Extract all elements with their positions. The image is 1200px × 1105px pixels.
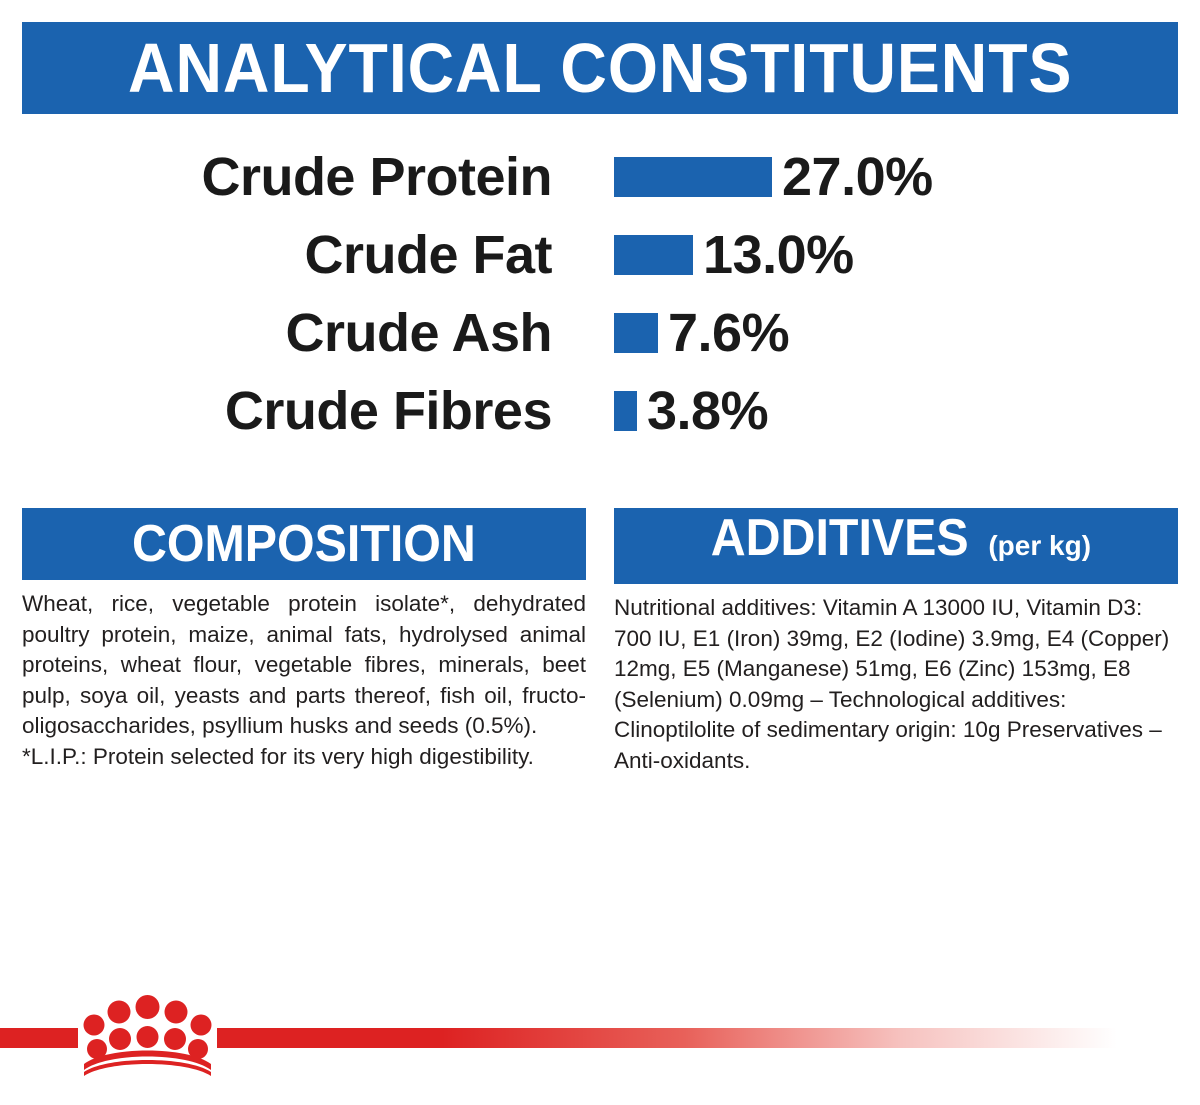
constituent-bar-group: 7.6% [614, 305, 789, 361]
constituent-bar [614, 235, 693, 275]
analytical-constituents-banner: ANALYTICAL CONSTITUENTS [22, 22, 1178, 114]
footer [0, 980, 1200, 1105]
royal-canin-crown-icon [78, 994, 217, 1076]
constituent-value: 3.8% [637, 383, 768, 439]
constituent-value: 7.6% [658, 305, 789, 361]
composition-footnote: *L.I.P.: Protein selected for its very h… [22, 742, 586, 773]
additives-body: Nutritional additives: Vitamin A 13000 I… [614, 584, 1178, 776]
constituent-bar [614, 391, 637, 431]
constituent-label: Crude Protein [201, 149, 586, 205]
additives-title: ADDITIVES [711, 512, 969, 564]
composition-title: COMPOSITION [132, 518, 476, 570]
constituent-bar [614, 157, 772, 197]
constituent-label: Crude Fibres [225, 383, 586, 439]
panels-container: COMPOSITION Wheat, rice, vegetable prote… [22, 508, 1178, 776]
composition-panel: COMPOSITION Wheat, rice, vegetable prote… [22, 508, 586, 776]
page-title: ANALYTICAL CONSTITUENTS [128, 33, 1072, 103]
constituent-row: Crude Fat 13.0% [0, 216, 1200, 294]
constituent-row: Crude Protein 27.0% [0, 138, 1200, 216]
constituent-label: Crude Ash [285, 305, 586, 361]
constituent-bar [614, 313, 658, 353]
constituent-value: 13.0% [693, 227, 854, 283]
composition-text: Wheat, rice, vegetable protein isolate*,… [22, 589, 586, 742]
constituent-row: Crude Ash 7.6% [0, 294, 1200, 372]
constituent-value: 27.0% [772, 149, 933, 205]
composition-body: Wheat, rice, vegetable protein isolate*,… [22, 580, 586, 772]
constituent-bar-group: 13.0% [614, 227, 854, 283]
footer-rule-right [217, 1028, 1117, 1048]
composition-header: COMPOSITION [22, 508, 586, 580]
constituent-label: Crude Fat [304, 227, 586, 283]
constituent-bar-group: 3.8% [614, 383, 768, 439]
additives-text: Nutritional additives: Vitamin A 13000 I… [614, 593, 1178, 776]
additives-panel: ADDITIVES (per kg) Nutritional additives… [614, 508, 1178, 776]
constituents-chart: Crude Protein 27.0% Crude Fat 13.0% Crud… [0, 138, 1200, 450]
constituent-bar-group: 27.0% [614, 149, 933, 205]
constituent-row: Crude Fibres 3.8% [0, 372, 1200, 450]
additives-header: ADDITIVES (per kg) [614, 508, 1178, 584]
footer-rule-left [0, 1028, 78, 1048]
additives-subtitle: (per kg) [978, 532, 1091, 560]
